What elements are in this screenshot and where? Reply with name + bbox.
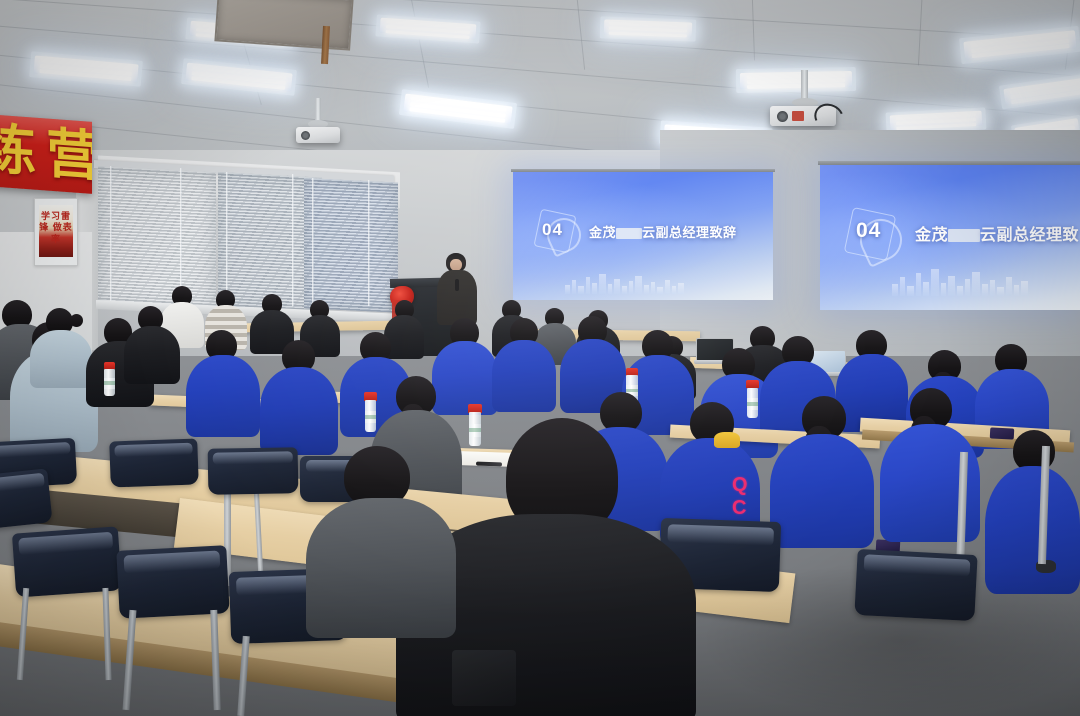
attendee-uniform	[985, 430, 1080, 590]
blind-cord[interactable]	[368, 180, 370, 306]
chair[interactable]	[116, 545, 229, 619]
slide-title-suffix: 云副总经理致	[980, 227, 1079, 244]
wall-poster: 学习雷锋 做表率	[34, 198, 78, 266]
projector-lens	[301, 131, 310, 140]
conference-room-photo: 练营 学习雷锋 做表率 04 金茂云副总经理致辞	[0, 0, 1080, 716]
slide-title-suffix: 云副总经理致辞	[642, 225, 737, 240]
slide-skyline-graphic	[890, 266, 1040, 296]
screen-top-edge	[818, 161, 1080, 165]
blind-cord[interactable]	[110, 166, 112, 304]
slide-title-prefix: 金茂	[915, 227, 948, 244]
speaker	[435, 253, 477, 325]
torso	[306, 498, 456, 638]
foreground-attendee	[306, 446, 456, 626]
red-banner: 练营	[0, 114, 92, 194]
slide-title-prefix: 金茂	[589, 225, 616, 240]
slide-title: 金茂云副总经理致	[915, 221, 1079, 245]
projection-screen-left: 04 金茂云副总经理致辞	[513, 172, 773, 300]
screen-top-edge	[511, 169, 775, 172]
slide-title-redaction	[948, 229, 980, 242]
poster-image: 学习雷锋 做表率	[39, 205, 73, 257]
banner-text: 练营	[0, 122, 92, 185]
poster-caption: 学习雷锋 做表率	[39, 211, 73, 245]
blind-cord[interactable]	[180, 168, 182, 304]
projection-screen-right: 04 金茂云副总经理致	[820, 165, 1080, 310]
window-blind[interactable]	[304, 178, 398, 313]
slide-number: 04	[542, 220, 563, 240]
torso	[124, 326, 180, 384]
microphone	[455, 279, 459, 291]
projector-lens	[777, 111, 788, 122]
slide-skyline-graphic	[563, 272, 693, 294]
attendee-uniform	[186, 330, 260, 434]
hair-bun	[70, 314, 83, 327]
attendee-uniform	[770, 396, 874, 544]
yellow-collar	[714, 432, 740, 448]
blind-cord[interactable]	[292, 174, 294, 306]
attendee-uniform	[260, 340, 338, 452]
blind-cord[interactable]	[226, 172, 228, 306]
projector-indicator	[792, 111, 804, 121]
chair[interactable]	[0, 468, 53, 529]
attendee	[124, 306, 180, 382]
torso-blue-uniform	[260, 367, 338, 455]
ceiling-projector	[296, 98, 340, 150]
chair[interactable]	[109, 438, 199, 487]
chair[interactable]	[12, 526, 122, 597]
blind-cord[interactable]	[312, 178, 314, 306]
slide-number: 04	[856, 219, 881, 243]
uniform-qc-logo: Q C	[732, 474, 760, 520]
water-bottle[interactable]	[104, 362, 115, 396]
chair[interactable]	[208, 447, 299, 495]
jacket-print	[452, 650, 516, 706]
slide-title-redaction	[616, 228, 642, 239]
torso-blue-uniform	[770, 434, 874, 548]
torso-blue-uniform	[186, 355, 260, 437]
ceiling-light	[600, 16, 697, 41]
slide-title: 金茂云副总经理致辞	[589, 222, 737, 241]
ceiling-projector	[768, 70, 844, 132]
torso	[30, 330, 92, 388]
chair[interactable]	[854, 549, 977, 621]
torso-blue-uniform	[985, 466, 1080, 594]
attendee-uniform	[492, 318, 556, 408]
torso-blue-uniform	[492, 340, 556, 412]
attendee	[30, 308, 92, 386]
